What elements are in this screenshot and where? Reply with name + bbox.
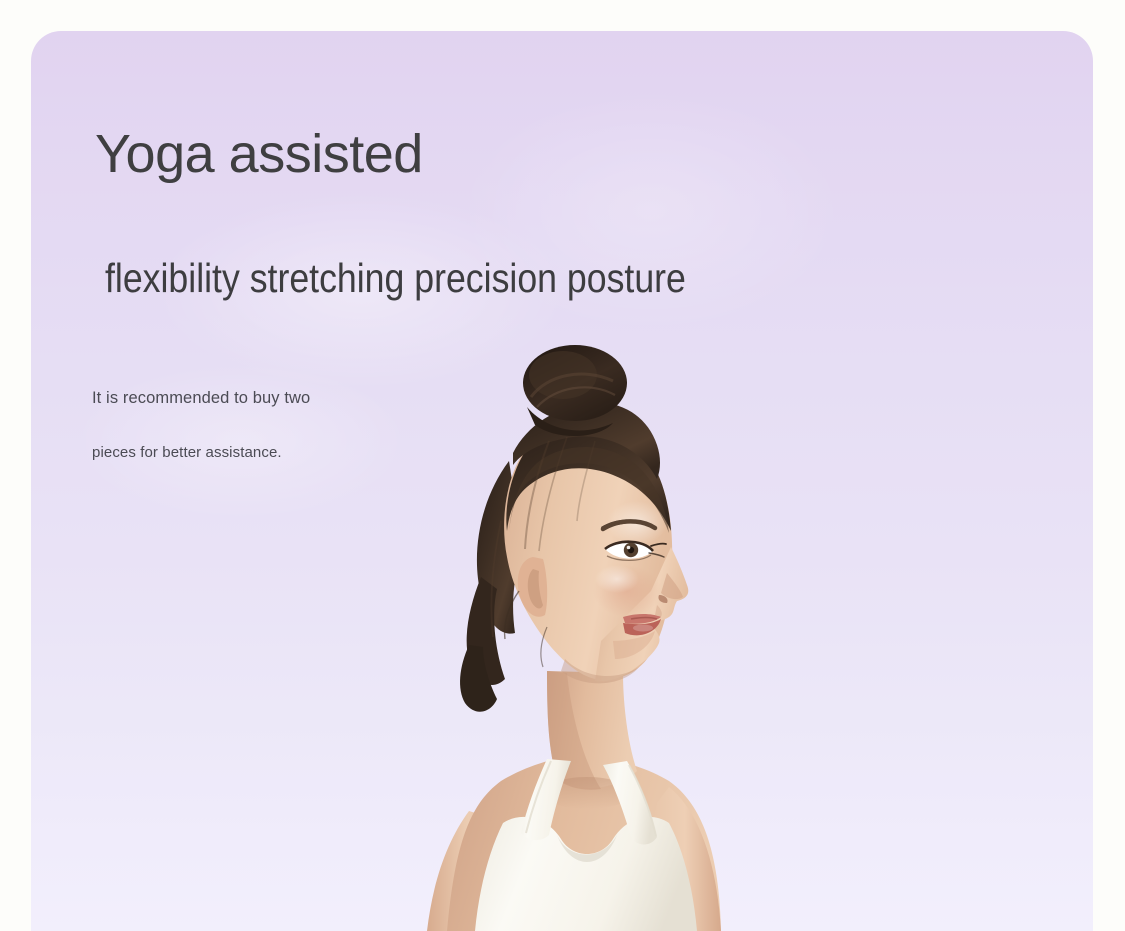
body-text-line-2: pieces for better assistance. bbox=[92, 444, 282, 461]
page-title: Yoga assisted bbox=[95, 126, 423, 183]
page-subtitle: flexibility stretching precision posture bbox=[105, 256, 686, 301]
page-root: Yoga assisted flexibility stretching pre… bbox=[0, 0, 1125, 931]
promo-card: Yoga assisted flexibility stretching pre… bbox=[31, 31, 1093, 931]
body-text-line-1: It is recommended to buy two bbox=[92, 389, 310, 408]
woman-profile-illustration bbox=[351, 341, 811, 931]
